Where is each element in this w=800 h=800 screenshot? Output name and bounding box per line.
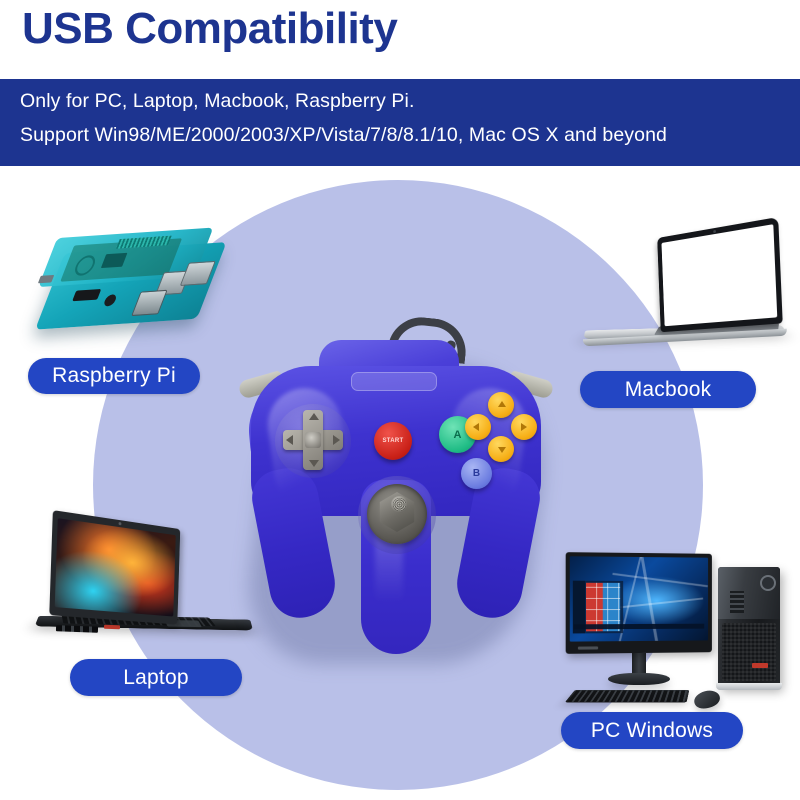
device-label-text: PC Windows xyxy=(591,719,713,743)
analog-stick-grooves xyxy=(393,498,406,511)
device-label-text: Raspberry Pi xyxy=(52,364,176,388)
device-label-pc-windows: PC Windows xyxy=(561,712,743,749)
device-label-laptop: Laptop xyxy=(70,659,242,696)
device-label-macbook: Macbook xyxy=(580,371,756,408)
infographic-page: USB Compatibility Only for PC, Laptop, M… xyxy=(0,0,800,800)
device-label-raspberry-pi: Raspberry Pi xyxy=(28,358,200,394)
dpad-icon xyxy=(283,410,343,470)
c-buttons-cluster xyxy=(465,392,537,464)
device-label-text: Laptop xyxy=(123,666,188,690)
banner-line-1: Only for PC, Laptop, Macbook, Raspberry … xyxy=(20,90,414,113)
desktop-pc-icon xyxy=(560,545,795,715)
windows-wallpaper xyxy=(570,556,708,641)
start-button: START xyxy=(374,422,412,460)
page-title: USB Compatibility xyxy=(22,6,397,52)
compatibility-banner: Only for PC, Laptop, Macbook, Raspberry … xyxy=(0,79,800,166)
controller-pak-slot xyxy=(351,372,437,391)
banner-line-2: Support Win98/ME/2000/2003/XP/Vista/7/8/… xyxy=(20,124,667,147)
start-button-label: START xyxy=(382,438,403,444)
macbook-laptop-icon xyxy=(595,228,795,368)
device-label-text: Macbook xyxy=(625,378,712,402)
n64-game-controller: START A B xyxy=(243,318,553,678)
thinkpad-laptop-icon xyxy=(40,520,255,655)
